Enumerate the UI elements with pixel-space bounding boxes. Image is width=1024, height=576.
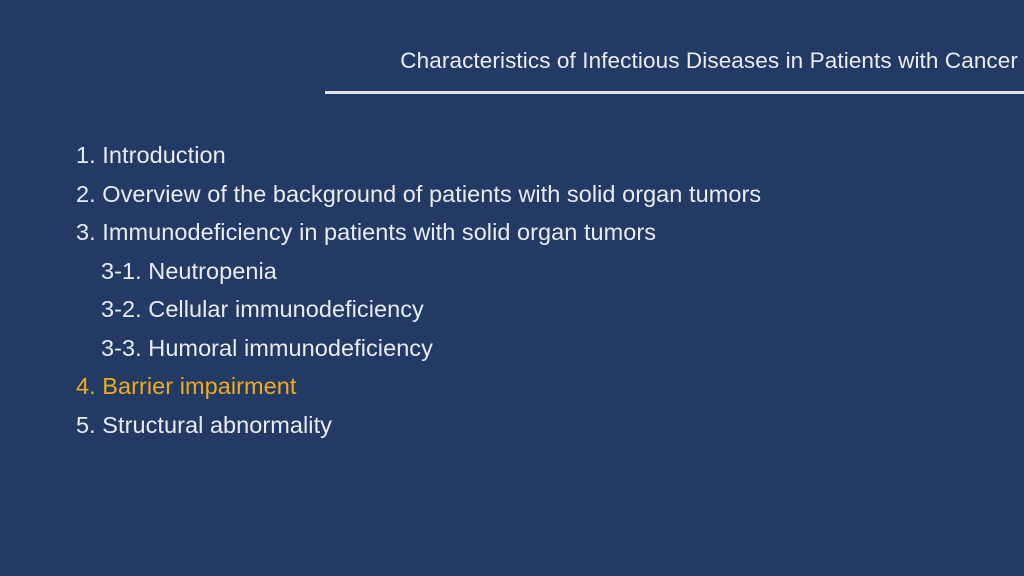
agenda-item[interactable]: 3-3. Humoral immunodeficiency — [0, 329, 1024, 368]
agenda-item-number: 3-2. — [101, 296, 142, 322]
agenda-item[interactable]: 1. Introduction — [0, 136, 1024, 175]
agenda-item-label: Humoral immunodeficiency — [148, 335, 433, 361]
presentation-slide: Characteristics of Infectious Diseases i… — [0, 0, 1024, 576]
agenda-item-number: 4. — [76, 373, 96, 399]
agenda-item[interactable]: 2. Overview of the background of patient… — [0, 175, 1024, 214]
title-underline-rule — [325, 91, 1024, 94]
agenda-list: 1. Introduction2. Overview of the backgr… — [0, 136, 1024, 444]
agenda-item-label: Barrier impairment — [102, 373, 296, 399]
agenda-item-number: 3-1. — [101, 258, 142, 284]
agenda-item[interactable]: 3-1. Neutropenia — [0, 252, 1024, 291]
agenda-item-label: Neutropenia — [148, 258, 277, 284]
agenda-item[interactable]: 3. Immunodeficiency in patients with sol… — [0, 213, 1024, 252]
slide-header: Characteristics of Infectious Diseases i… — [0, 46, 1024, 96]
page-title: Characteristics of Infectious Diseases i… — [400, 46, 1018, 76]
agenda-item-label: Introduction — [102, 142, 225, 168]
agenda-item-number: 1. — [76, 142, 96, 168]
agenda-item-number: 3. — [76, 219, 96, 245]
agenda-item-label: Overview of the background of patients w… — [102, 181, 761, 207]
agenda-item-number: 5. — [76, 412, 96, 438]
agenda-item[interactable]: 5. Structural abnormality — [0, 406, 1024, 445]
agenda-item-label: Immunodeficiency in patients with solid … — [102, 219, 656, 245]
agenda-item-number: 2. — [76, 181, 96, 207]
agenda-item[interactable]: 3-2. Cellular immunodeficiency — [0, 290, 1024, 329]
agenda-item-label: Cellular immunodeficiency — [148, 296, 424, 322]
agenda-item-number: 3-3. — [101, 335, 142, 361]
agenda-item-label: Structural abnormality — [102, 412, 332, 438]
agenda-item[interactable]: 4. Barrier impairment — [0, 367, 1024, 406]
